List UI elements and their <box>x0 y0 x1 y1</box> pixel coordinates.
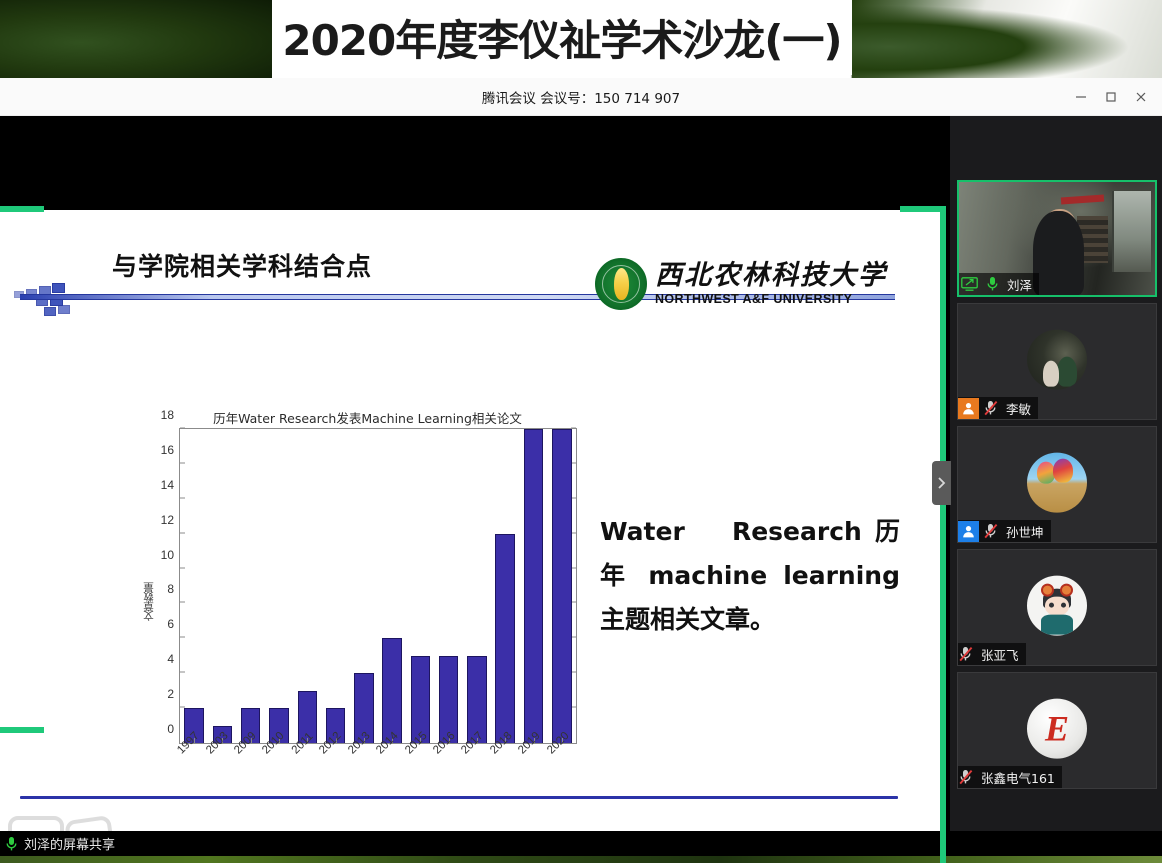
chart-bar-cell <box>321 429 349 743</box>
mic-on-icon <box>5 836 18 852</box>
mic-on-icon <box>986 276 999 292</box>
mic-muted-icon <box>959 769 974 785</box>
chart-x-axis-labels: 1997200320092010201120122013201420152016… <box>179 746 577 786</box>
chart-plot-area: 024681012141618 <box>179 428 577 744</box>
chart-y-tick-label: 16 <box>161 443 174 457</box>
papers-per-year-chart: 历年Water Research发表Machine Learning相关论文 文… <box>145 408 590 778</box>
chart-x-label-cell: 2018 <box>492 746 520 786</box>
banner-title-text: 2020年度李仪祉学术沙龙(一) <box>272 0 852 75</box>
slide-heading: 与学院相关学科结合点 <box>112 247 372 283</box>
chart-x-label-cell: 2016 <box>435 746 463 786</box>
chart-x-label-cell: 2019 <box>520 746 548 786</box>
chart-x-label-cell: 2009 <box>236 746 264 786</box>
chart-y-tick-label: 8 <box>167 582 174 596</box>
mic-muted-icon <box>984 400 999 416</box>
chart-y-tick-label: 0 <box>167 722 174 736</box>
chart-title: 历年Water Research发表Machine Learning相关论文 <box>145 408 590 427</box>
banner-leaf-left <box>0 0 272 78</box>
chart-bar-cell <box>293 429 321 743</box>
slide-body-text: Water Research 历 年 machine learning主题相关文… <box>600 510 900 641</box>
participant-tile[interactable]: 张亚飞 <box>957 549 1157 666</box>
close-button[interactable] <box>1126 82 1156 112</box>
maximize-button[interactable] <box>1096 82 1126 112</box>
chart-y-tick-label: 10 <box>161 548 174 562</box>
chart-x-label-cell: 2017 <box>463 746 491 786</box>
chart-y-tick-label: 4 <box>167 652 174 666</box>
slide-footer-rule <box>20 796 898 799</box>
chart-bar <box>495 534 515 743</box>
chart-bar-cell <box>350 429 378 743</box>
share-indicator-bottom-left <box>0 727 44 733</box>
banner-leaf-right <box>852 0 1162 78</box>
mic-muted-icon <box>984 523 999 539</box>
chart-x-label-cell: 1997 <box>179 746 207 786</box>
chart-bar <box>524 429 544 743</box>
minimize-button[interactable] <box>1066 82 1096 112</box>
chart-bar-cell <box>208 429 236 743</box>
chart-bar-cell <box>435 429 463 743</box>
participant-tile[interactable]: 孙世坤 <box>957 426 1157 543</box>
avatar <box>1027 575 1087 635</box>
participant-name: 刘泽 <box>1005 275 1032 294</box>
chart-x-label-cell: 2012 <box>321 746 349 786</box>
avatar <box>1027 329 1087 389</box>
meeting-stage: 与学院相关学科结合点 西北农林科 <box>0 116 1162 831</box>
participant-name: 张亚飞 <box>979 645 1019 664</box>
chart-bar-cell <box>237 429 265 743</box>
participant-tile[interactable]: 李敏 <box>957 303 1157 420</box>
participants-panel: 刘泽李敏孙世坤张亚飞E张鑫电气161 <box>950 116 1162 831</box>
chart-y-tick-label: 14 <box>161 478 174 492</box>
avatar-letter: E <box>1045 710 1069 746</box>
shared-screen-area[interactable]: 与学院相关学科结合点 西北农林科 <box>0 116 950 831</box>
participant-badge <box>958 521 979 542</box>
chart-y-tick-label: 12 <box>161 513 174 527</box>
chart-bar <box>382 638 402 743</box>
event-banner: 2020年度李仪祉学术沙龙(一) <box>0 0 1162 78</box>
chart-y-tick-label: 2 <box>167 687 174 701</box>
logo-name-cn: 西北农林科技大学 <box>655 262 887 290</box>
share-indicator-top-left <box>0 206 44 212</box>
host-badge <box>958 398 979 419</box>
chart-bar-cell <box>406 429 434 743</box>
participant-name: 李敏 <box>1004 399 1031 418</box>
mic-muted-icon[interactable] <box>958 768 975 787</box>
chart-bar <box>552 429 572 743</box>
share-status-text: 刘泽的屏幕共享 <box>24 834 115 853</box>
presentation-slide: 与学院相关学科结合点 西北农林科 <box>0 210 945 863</box>
participant-footer: 张鑫电气161 <box>958 766 1062 788</box>
screen-share-badge <box>959 274 980 295</box>
chart-x-label-cell: 2010 <box>264 746 292 786</box>
chart-y-tick-label: 18 <box>161 408 174 422</box>
screen-share-icon <box>961 277 978 291</box>
chart-bar-cell <box>548 429 576 743</box>
participant-footer: 李敏 <box>958 397 1038 419</box>
chart-x-label-cell: 2011 <box>293 746 321 786</box>
window-controls <box>1066 78 1156 115</box>
desktop-background-strip <box>0 856 1162 863</box>
participant-name: 张鑫电气161 <box>979 768 1055 787</box>
chart-x-label-cell: 2015 <box>406 746 434 786</box>
chart-bar-cell <box>519 429 547 743</box>
meeting-window: 2020年度李仪祉学术沙龙(一) 腾讯会议 会议号：150 714 907 与学… <box>0 0 1162 863</box>
mic-muted-icon <box>959 646 974 662</box>
mic-muted-icon[interactable] <box>983 522 1000 541</box>
chart-bar-cell <box>378 429 406 743</box>
chart-x-label-cell: 2014 <box>378 746 406 786</box>
mic-muted-icon[interactable] <box>983 399 1000 418</box>
mic-on-icon[interactable] <box>984 275 1001 294</box>
chart-bar-cell <box>265 429 293 743</box>
chart-bar-cell <box>463 429 491 743</box>
meeting-title: 腾讯会议 会议号：150 714 907 <box>0 78 1162 115</box>
chart-bar-cell <box>180 429 208 743</box>
chart-x-label-cell: 2003 <box>207 746 235 786</box>
collapse-panel-button[interactable] <box>932 461 951 505</box>
university-logo: 西北农林科技大学 NORTHWEST A&F UNIVERSITY <box>595 258 887 310</box>
chart-y-tick-label: 6 <box>167 617 174 631</box>
chart-bars <box>180 429 576 743</box>
mic-muted-icon[interactable] <box>958 645 975 664</box>
participant-footer: 刘泽 <box>959 273 1039 295</box>
chevron-right-icon <box>937 476 946 490</box>
status-bar: 刘泽的屏幕共享 <box>0 831 1162 856</box>
chart-x-label-cell: 2013 <box>350 746 378 786</box>
participant-footer: 张亚飞 <box>958 643 1026 665</box>
participant-footer: 孙世坤 <box>958 520 1051 542</box>
chart-y-axis-label: 文章数量 <box>141 583 156 621</box>
person-icon <box>962 525 975 538</box>
avatar <box>1027 452 1087 512</box>
participant-tile[interactable]: E张鑫电气161 <box>957 672 1157 789</box>
participant-name: 孙世坤 <box>1004 522 1044 541</box>
share-indicator-right <box>940 206 946 863</box>
logo-name-en: NORTHWEST A&F UNIVERSITY <box>655 292 887 306</box>
wheat-icon <box>614 268 629 300</box>
chart-x-label-cell: 2020 <box>548 746 576 786</box>
chart-bar-cell <box>491 429 519 743</box>
window-titlebar: 腾讯会议 会议号：150 714 907 <box>0 78 1162 116</box>
avatar: E <box>1027 698 1087 758</box>
person-icon <box>962 402 975 415</box>
logo-seal-icon <box>595 258 647 310</box>
participant-tile[interactable]: 刘泽 <box>957 180 1157 297</box>
